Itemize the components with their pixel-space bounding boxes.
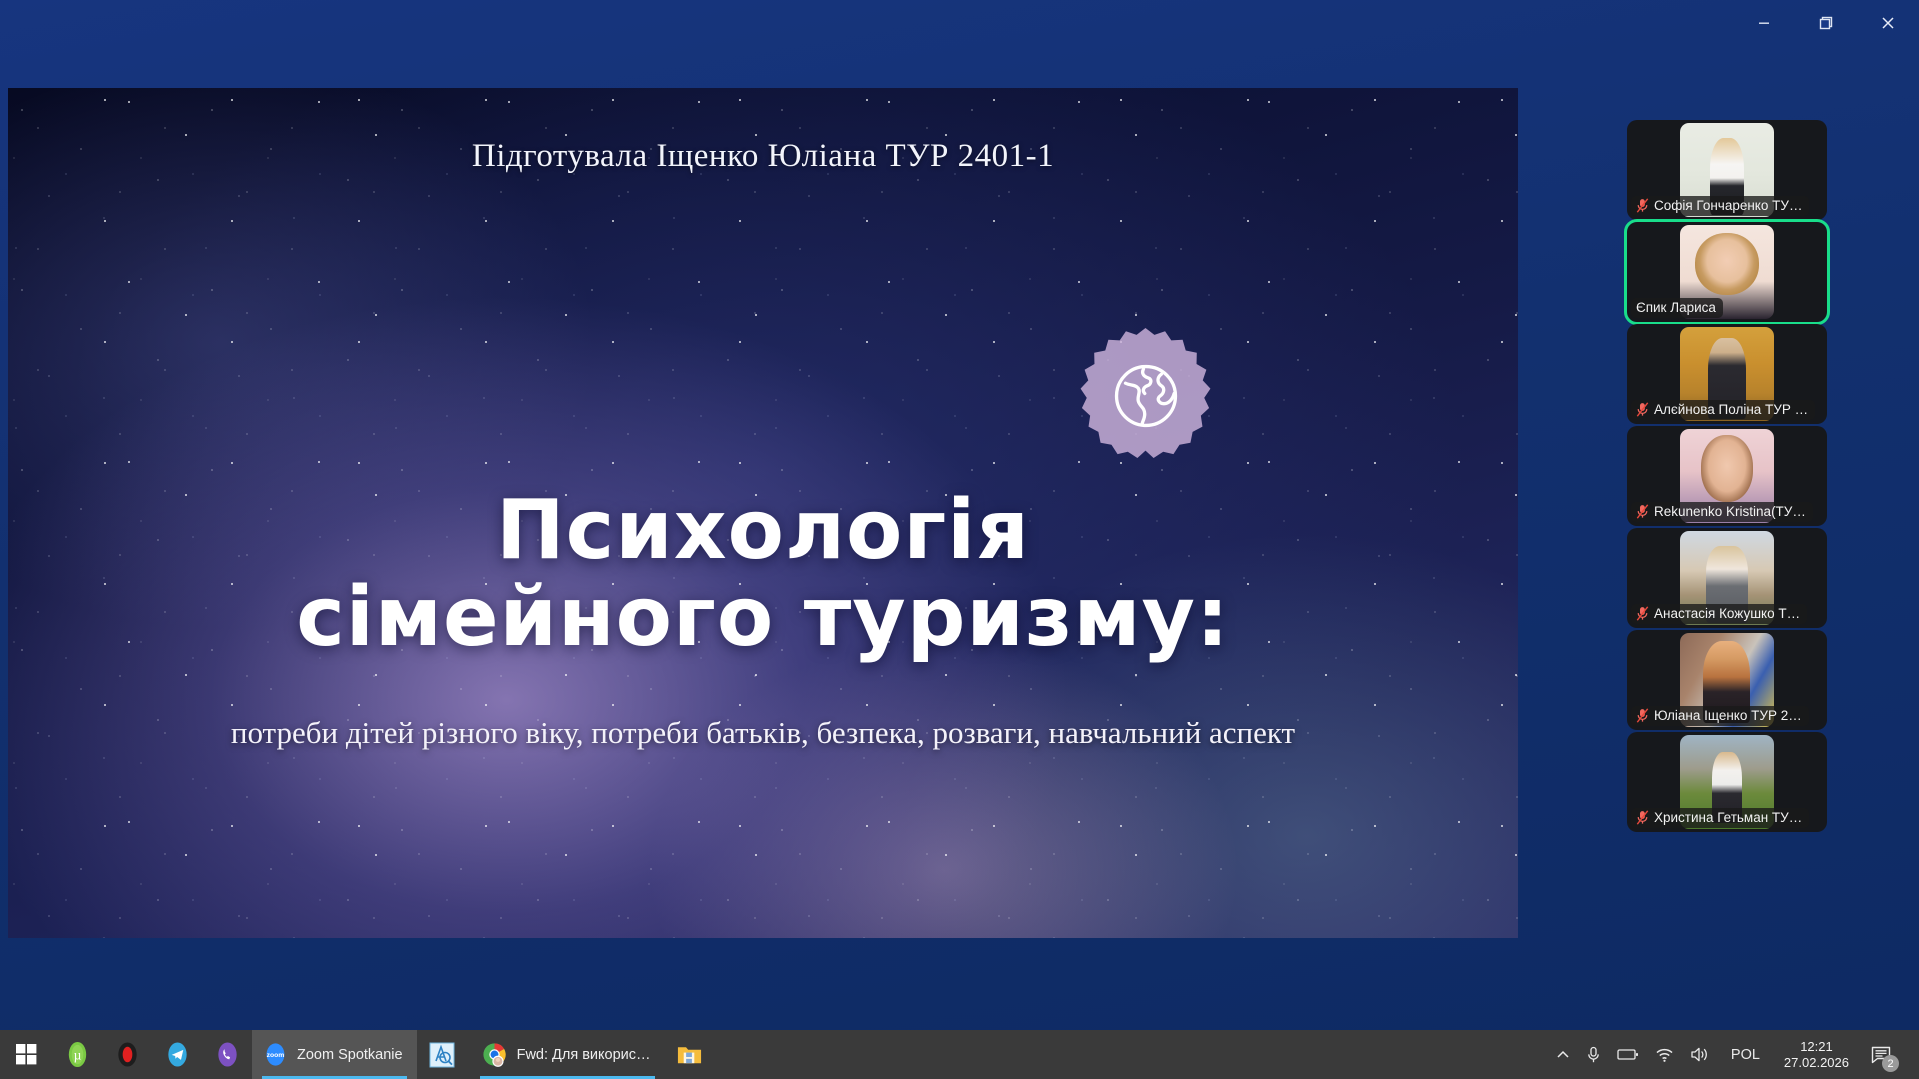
tray-time: 12:21 bbox=[1800, 1039, 1833, 1055]
mic-muted-icon bbox=[1636, 504, 1649, 519]
wifi-icon bbox=[1655, 1047, 1674, 1063]
restore-icon bbox=[1817, 14, 1835, 32]
battery-icon bbox=[1617, 1048, 1639, 1061]
slide-title: Психологія сімейного туризму: bbox=[8, 488, 1518, 662]
taskbar-utorrent[interactable]: µ bbox=[52, 1030, 102, 1079]
tray-network-button[interactable] bbox=[1647, 1030, 1682, 1079]
restore-button[interactable] bbox=[1795, 0, 1857, 46]
close-icon bbox=[1879, 14, 1897, 32]
tray-microphone-button[interactable] bbox=[1578, 1030, 1609, 1079]
mic-muted-icon bbox=[1636, 402, 1649, 417]
participant-name-chip: Христина Гетьман ТУ… bbox=[1631, 808, 1809, 828]
shared-screen-slide[interactable]: Підготувала Іщенко Юліана ТУР 2401-1 Пси… bbox=[8, 88, 1518, 938]
globe-icon bbox=[1105, 355, 1187, 437]
microphone-icon bbox=[1586, 1046, 1601, 1064]
participant-tile[interactable]: Анастасія Кожушко Т… bbox=[1627, 528, 1827, 628]
windows-start-icon bbox=[16, 1044, 37, 1065]
participant-name: Алєйнова Поліна ТУР … bbox=[1654, 402, 1808, 417]
mic-muted-icon bbox=[1636, 708, 1649, 723]
participant-tile[interactable]: Софія Гончаренко ТУ… bbox=[1627, 120, 1827, 220]
slide-subtitle: потреби дітей різного віку, потреби бать… bbox=[128, 713, 1398, 753]
tray-date: 27.02.2026 bbox=[1784, 1055, 1849, 1071]
taskbar-telegram[interactable] bbox=[152, 1030, 202, 1079]
minimize-button[interactable] bbox=[1733, 0, 1795, 46]
tray-notifications-button[interactable]: 2 bbox=[1861, 1030, 1905, 1079]
taskbar-task-zoom-label: Zoom Spotkanie bbox=[297, 1047, 403, 1063]
participant-tile[interactable]: Rekunenko Kristina(ТУ… bbox=[1627, 426, 1827, 526]
participant-name: Rekunenko Kristina(ТУ… bbox=[1654, 504, 1806, 519]
taskbar-task-explorer[interactable] bbox=[665, 1030, 717, 1079]
mic-muted-icon bbox=[1636, 198, 1649, 213]
viber-icon bbox=[214, 1041, 241, 1068]
participant-filmstrip[interactable]: Софія Гончаренко ТУ… Єпик Лариса Алєйнов… bbox=[1627, 120, 1827, 834]
tray-show-hidden-button[interactable] bbox=[1548, 1030, 1578, 1079]
folder-icon bbox=[676, 1043, 703, 1067]
taskbar-recorder[interactable] bbox=[102, 1030, 152, 1079]
system-tray: POL 12:21 27.02.2026 2 bbox=[1548, 1030, 1919, 1079]
participant-name-chip: Алєйнова Поліна ТУР … bbox=[1631, 400, 1815, 420]
tray-volume-button[interactable] bbox=[1682, 1030, 1719, 1079]
tray-clock[interactable]: 12:21 27.02.2026 bbox=[1772, 1030, 1861, 1079]
search-icon bbox=[428, 1041, 456, 1069]
tray-language-indicator[interactable]: POL bbox=[1719, 1030, 1772, 1079]
participant-name: Анастасія Кожушко Т… bbox=[1654, 606, 1800, 621]
chrome-icon bbox=[481, 1041, 508, 1068]
tray-battery-button[interactable] bbox=[1609, 1030, 1647, 1079]
participant-tile[interactable]: Христина Гетьман ТУ… bbox=[1627, 732, 1827, 832]
notification-count-badge: 2 bbox=[1882, 1055, 1899, 1072]
mic-muted-icon bbox=[1636, 810, 1649, 825]
participant-tile[interactable]: Юліана Іщенко ТУР 2… bbox=[1627, 630, 1827, 730]
zoom-meeting-window: Підготувала Іщенко Юліана ТУР 2401-1 Пси… bbox=[0, 0, 1919, 1030]
minimize-icon bbox=[1756, 15, 1772, 31]
start-button[interactable] bbox=[0, 1030, 52, 1079]
volume-icon bbox=[1690, 1046, 1711, 1063]
globe-badge bbox=[1078, 328, 1213, 463]
participant-name: Юліана Іщенко ТУР 2… bbox=[1654, 708, 1802, 723]
taskbar-task-zoom[interactable]: zoom Zoom Spotkanie bbox=[252, 1030, 417, 1079]
participant-name-chip: Юліана Іщенко ТУР 2… bbox=[1631, 706, 1809, 726]
participant-name: Єпик Лариса bbox=[1636, 300, 1716, 315]
svg-text:zoom: zoom bbox=[267, 1052, 285, 1059]
windows-taskbar: µ zoom Zoom Spotkanie bbox=[0, 1030, 1919, 1079]
svg-text:µ: µ bbox=[73, 1047, 81, 1062]
participant-name: Христина Гетьман ТУ… bbox=[1654, 810, 1802, 825]
record-icon bbox=[114, 1041, 141, 1068]
mic-muted-icon bbox=[1636, 606, 1649, 621]
participant-name: Софія Гончаренко ТУ… bbox=[1654, 198, 1802, 213]
window-titlebar bbox=[0, 0, 1919, 46]
utorrent-icon: µ bbox=[64, 1041, 91, 1068]
participant-name-chip: Анастасія Кожушко Т… bbox=[1631, 604, 1807, 624]
slide-title-line-1: Психологія bbox=[8, 488, 1518, 575]
participant-tile-active-speaker[interactable]: Єпик Лариса bbox=[1627, 222, 1827, 322]
participant-name-chip: Софія Гончаренко ТУ… bbox=[1631, 196, 1809, 216]
close-button[interactable] bbox=[1857, 0, 1919, 46]
slide-title-line-2: сімейного туризму: bbox=[8, 575, 1518, 662]
taskbar-task-chrome-label: Fwd: Для викорис… bbox=[517, 1047, 651, 1063]
taskbar-task-search[interactable] bbox=[417, 1030, 470, 1079]
chevron-up-icon bbox=[1556, 1048, 1570, 1062]
participant-name-chip: Єпик Лариса bbox=[1631, 298, 1723, 318]
taskbar-spacer bbox=[717, 1030, 1548, 1079]
taskbar-task-chrome[interactable]: Fwd: Для викорис… bbox=[470, 1030, 665, 1079]
telegram-icon bbox=[164, 1041, 191, 1068]
participant-tile[interactable]: Алєйнова Поліна ТУР … bbox=[1627, 324, 1827, 424]
taskbar-viber[interactable] bbox=[202, 1030, 252, 1079]
zoom-icon: zoom bbox=[263, 1042, 288, 1067]
slide-author-line: Підготувала Іщенко Юліана ТУР 2401-1 bbox=[8, 138, 1518, 175]
participant-name-chip: Rekunenko Kristina(ТУ… bbox=[1631, 502, 1813, 522]
